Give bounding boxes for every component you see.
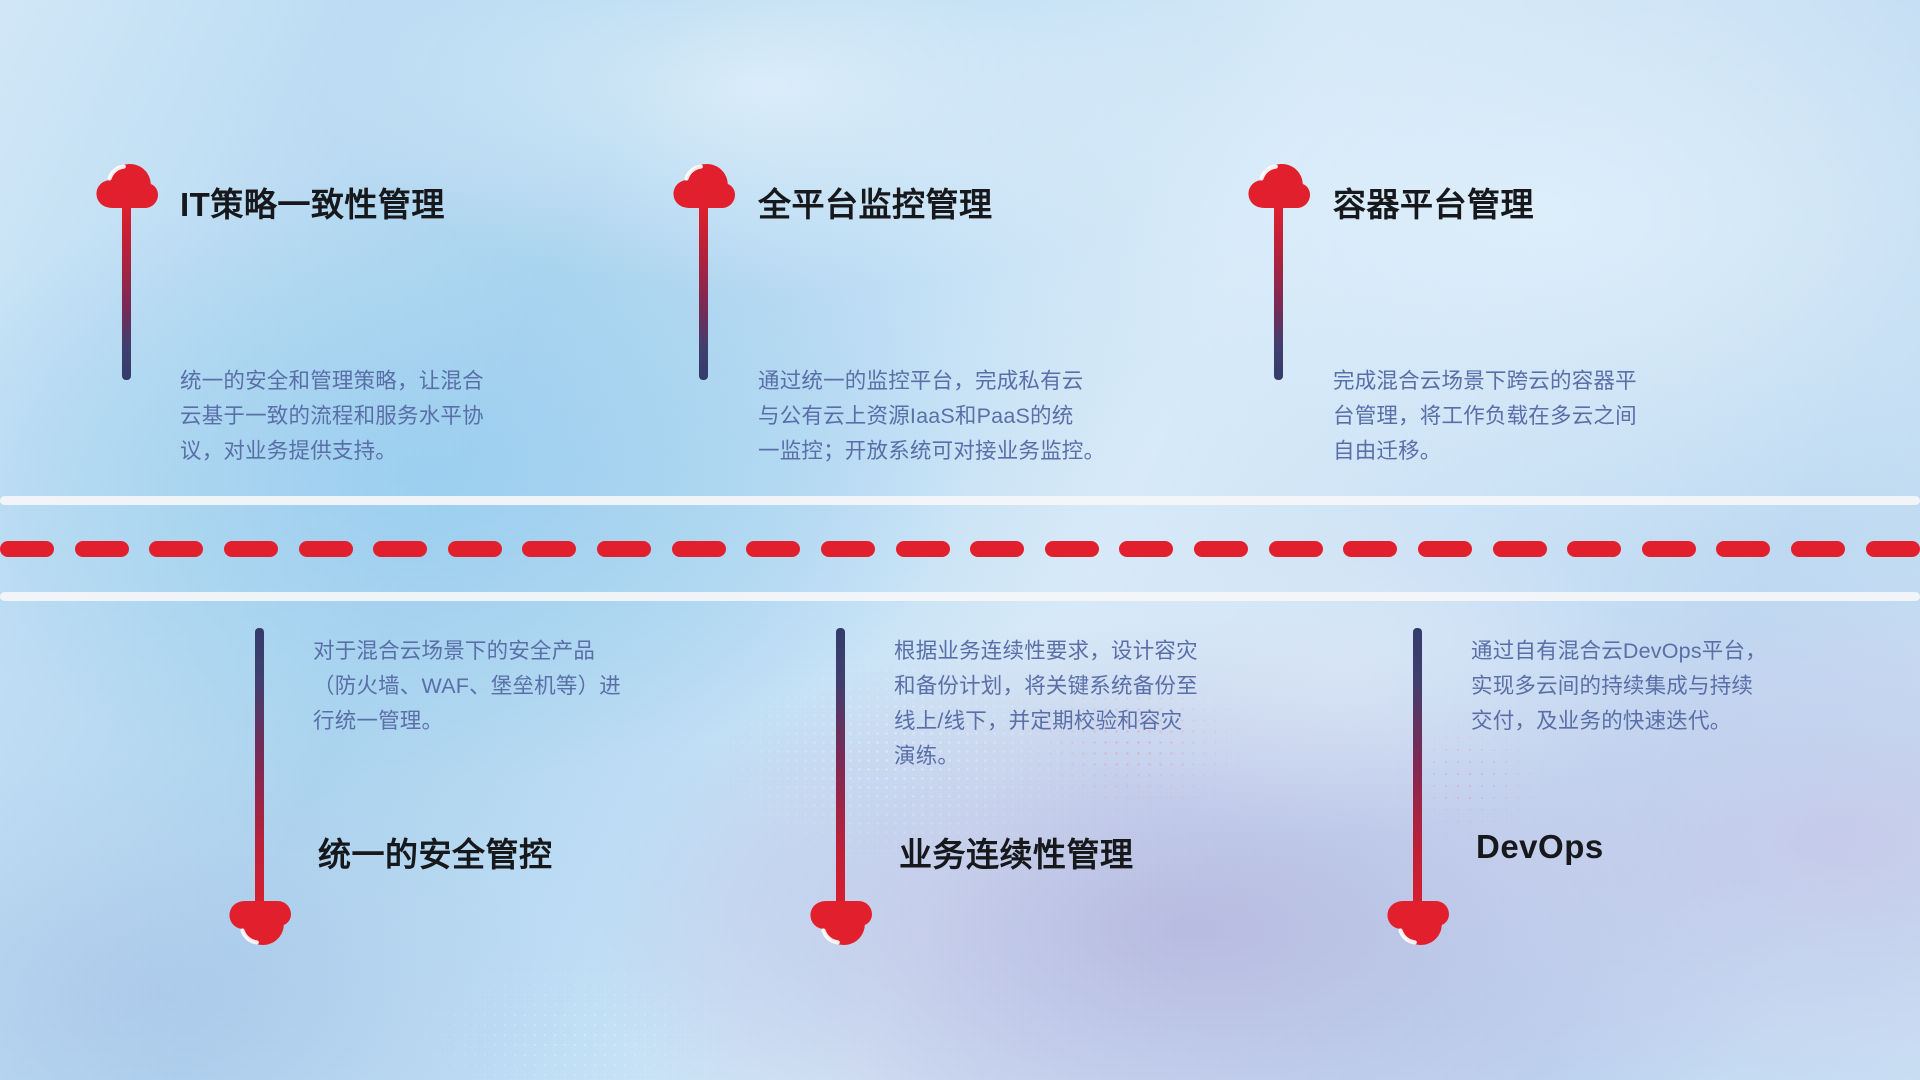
item-body: 对于混合云场景下的安全产品 （防火墙、WAF、堡垒机等）进 行统一管理。 (313, 634, 621, 739)
divider-dash (299, 541, 353, 557)
divider-dash (0, 541, 54, 557)
body-line: 台管理，将工作负载在多云之间 (1333, 399, 1637, 434)
body-line: 议，对业务提供支持。 (180, 434, 484, 469)
stem-connector (836, 628, 845, 908)
body-line: 对于混合云场景下的安全产品 (313, 634, 621, 669)
item-title: 容器平台管理 (1333, 178, 1534, 226)
body-line: 自由迁移。 (1333, 434, 1637, 469)
divider-dash (1866, 541, 1920, 557)
item-title: 全平台监控管理 (758, 178, 993, 226)
divider-dash (1194, 541, 1248, 557)
body-line: 与公有云上资源IaaS和PaaS的统 (758, 399, 1105, 434)
divider-rule-bottom (0, 592, 1920, 601)
item-body: 完成混合云场景下跨云的容器平 台管理，将工作负载在多云之间 自由迁移。 (1333, 364, 1637, 469)
divider-dash (1343, 541, 1397, 557)
item-title: IT策略一致性管理 (180, 178, 445, 226)
body-line: 根据业务连续性要求，设计容灾 (894, 634, 1198, 669)
divider-dash (448, 541, 502, 557)
body-line: 统一的安全和管理策略，让混合 (180, 364, 484, 399)
cloud-icon (228, 900, 292, 946)
body-line: 一监控；开放系统可对接业务监控。 (758, 434, 1105, 469)
cloud-icon (809, 900, 873, 946)
item-body: 通过统一的监控平台，完成私有云 与公有云上资源IaaS和PaaS的统 一监控；开… (758, 364, 1105, 469)
item-body: 通过自有混合云DevOps平台， 实现多云间的持续集成与持续 交付，及业务的快速… (1471, 634, 1767, 739)
divider-dash (1642, 541, 1696, 557)
divider-dash (896, 541, 950, 557)
stem-connector (1274, 203, 1283, 380)
item-title: DevOps (1476, 828, 1604, 866)
divider-dash (970, 541, 1024, 557)
dashed-road-divider (0, 541, 1920, 557)
body-line: 演练。 (894, 739, 1198, 774)
divider-dash (1119, 541, 1173, 557)
divider-dash (1716, 541, 1770, 557)
body-line: 云基于一致的流程和服务水平协 (180, 399, 484, 434)
divider-dash (224, 541, 278, 557)
divider-dash (1567, 541, 1621, 557)
item-title: 统一的安全管控 (318, 828, 553, 876)
item-title: 业务连续性管理 (899, 828, 1134, 876)
body-line: 完成混合云场景下跨云的容器平 (1333, 364, 1637, 399)
stem-connector (1413, 628, 1422, 908)
cloud-icon (1386, 900, 1450, 946)
divider-dash (1418, 541, 1472, 557)
divider-dash (821, 541, 875, 557)
body-line: 通过统一的监控平台，完成私有云 (758, 364, 1105, 399)
body-line: 实现多云间的持续集成与持续 (1471, 669, 1767, 704)
body-line: 通过自有混合云DevOps平台， (1471, 634, 1767, 669)
divider-dash (75, 541, 129, 557)
divider-dash (522, 541, 576, 557)
divider-dash (597, 541, 651, 557)
divider-rule-top (0, 496, 1920, 505)
body-line: 线上/线下，并定期校验和容灾 (894, 704, 1198, 739)
divider-dash (1791, 541, 1845, 557)
body-line: 交付，及业务的快速迭代。 (1471, 704, 1767, 739)
divider-dash (1045, 541, 1099, 557)
item-body: 统一的安全和管理策略，让混合 云基于一致的流程和服务水平协 议，对业务提供支持。 (180, 364, 484, 469)
divider-dash (373, 541, 427, 557)
divider-dash (1269, 541, 1323, 557)
divider-dash (149, 541, 203, 557)
stem-connector (255, 628, 264, 908)
stem-connector (122, 203, 131, 380)
stem-connector (699, 203, 708, 380)
divider-dash (746, 541, 800, 557)
divider-dash (672, 541, 726, 557)
item-body: 根据业务连续性要求，设计容灾 和备份计划，将关键系统备份至 线上/线下，并定期校… (894, 634, 1198, 774)
body-line: （防火墙、WAF、堡垒机等）进 (313, 669, 621, 704)
body-line: 和备份计划，将关键系统备份至 (894, 669, 1198, 704)
infographic-canvas: IT策略一致性管理 统一的安全和管理策略，让混合 云基于一致的流程和服务水平协 … (0, 0, 1920, 1080)
body-line: 行统一管理。 (313, 704, 621, 739)
divider-dash (1493, 541, 1547, 557)
